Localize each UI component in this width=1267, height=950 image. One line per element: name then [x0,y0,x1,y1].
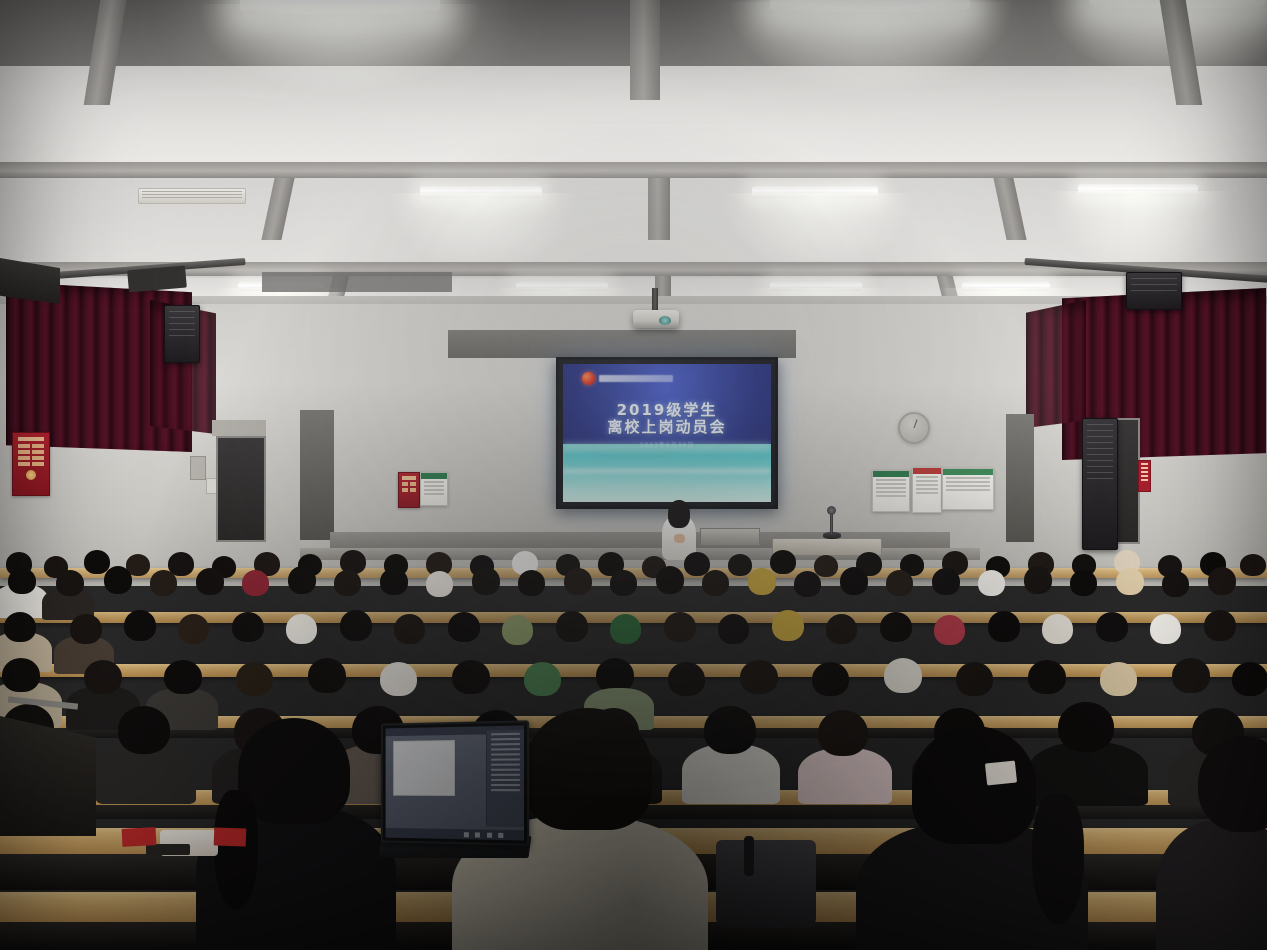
audience-head-front-left [238,718,350,824]
audience-head [452,660,490,694]
microphone-stand [830,512,833,534]
projector-lens [659,316,671,325]
audience-head [104,566,132,594]
audience-head [502,615,533,645]
audience-head [1070,570,1097,596]
audience-head [178,614,209,644]
backpack-strap [744,836,754,876]
audience-head [236,662,273,696]
audience-head [826,614,857,644]
paper-sheet [985,760,1017,785]
air-vent [138,188,246,204]
university-logo-icon [582,372,595,385]
audience-head [1150,614,1181,644]
audience-head [814,555,838,577]
audience-head [380,568,408,595]
screen-sea [563,444,771,502]
audience-head [286,614,317,644]
backpack [716,840,816,928]
audience-head [242,570,269,596]
wall-recess [448,330,796,358]
audience-head [70,614,102,644]
audience-head [56,570,84,596]
red-paper [122,827,157,847]
audience-head [772,610,804,641]
audience-head [664,612,696,642]
audience-head [812,662,849,696]
notice-board-red [912,467,942,513]
recessed-panel-light [420,186,542,198]
open-laptop[interactable] [381,720,529,846]
audience-head [124,610,156,641]
ceiling [0,0,1267,300]
notice-board-green [872,470,910,512]
audience-head [340,610,372,641]
red-paper-2 [214,827,247,846]
audience-head [656,566,684,594]
audience-head [818,710,868,756]
audience-head [472,567,500,595]
university-logo-wordmark [599,375,673,382]
ceiling-projector [633,310,679,328]
door-left[interactable] [216,436,266,542]
audience-head [1208,567,1236,595]
audience-head [2,658,40,692]
audience-head [1028,660,1066,694]
wall-recess-left [262,272,452,292]
laptop-status-bar [386,828,524,841]
audience-head [1042,614,1073,644]
projector-mount-arm [652,288,658,312]
audience-head [232,612,264,642]
audience-head [1100,662,1137,696]
slide-logo [582,372,673,385]
notice-board-green-2 [942,468,994,510]
audience-head [704,706,756,754]
audience-head [978,570,1005,596]
microphone-head [827,506,836,515]
audience-head [748,568,776,595]
hair-strand [214,790,258,910]
audience-head [1024,566,1052,594]
audience-head [1172,658,1210,693]
audience-head [956,662,993,696]
audience-head [426,571,453,597]
screen-foam [563,469,771,473]
audience-head [118,706,170,754]
audience-head [884,658,922,693]
audience-head [610,570,637,596]
audience-head [308,658,346,693]
audience-head [4,612,36,642]
audience-head [728,554,752,576]
audience-head [886,570,913,596]
laptop-canvas [394,740,455,796]
recessed-panel-light [1078,184,1198,196]
audience-area: ITRTRZOD [0,540,1267,950]
audience-head [1058,702,1114,752]
door-left-frame-top [212,420,266,436]
mobile-phone [146,844,190,855]
audience-head [196,568,224,595]
projection-screen-frame: 2019级学生 离校上岗动员会 2023年6月30日 [556,357,778,509]
audience-shoulders [798,748,892,804]
audience-head [988,611,1020,642]
audience-head [1162,571,1189,597]
audience-head [524,662,561,696]
slide-title-line2: 离校上岗动员会 [563,416,771,437]
audience-head [702,570,729,596]
audience-head [718,614,749,644]
wall-fixture-left [190,456,206,480]
audience-head [1240,554,1266,576]
audience-head-front-right [912,726,1036,844]
audience-head [840,567,868,595]
ceiling-beam [630,0,660,100]
audience-head [880,612,912,642]
recessed-panel-light [770,0,970,12]
audience-head [556,611,588,642]
audience-head [668,662,705,696]
audience-head [84,660,122,694]
lecture-hall-photo: 2019级学生 离校上岗动员会 2023年6月30日 [0,0,1267,950]
recessed-panel-light [516,282,608,291]
laptop-screen[interactable] [386,726,524,841]
laptop-tool-panel [486,730,524,827]
ceiling-beam [648,178,670,240]
red-wall-sign [1138,460,1151,492]
audience-head [564,568,592,595]
recessed-panel-light [240,0,440,14]
audience-shoulders-front-far-right [1156,820,1267,950]
stage-left-notice-board [420,472,448,506]
audience-head [770,550,796,574]
audience-head [740,660,778,694]
red-honor-poster [12,432,50,496]
audience-head [164,660,202,694]
presenter-hair [668,500,690,528]
audience-head [932,568,960,595]
slide-subtitle: 2023年6月30日 [563,440,771,449]
audience-head [934,615,965,645]
projection-screen: 2019级学生 离校上岗动员会 2023年6月30日 [563,364,771,502]
audience-head [1232,662,1267,696]
audience-head [8,568,36,594]
audience-head [448,612,480,642]
recessed-panel-light [752,186,878,198]
audience-head [1116,568,1144,595]
recessed-panel-light [962,282,1050,291]
stage-left-poster [398,472,420,508]
audience-head-front-center [524,708,652,830]
hair-strand-right [1032,794,1084,924]
audience-head [394,614,425,644]
pa-speaker-hanging-right [1126,272,1182,310]
audience-head [518,570,545,596]
pa-speaker-hanging-left [164,305,200,363]
audience-head [1096,612,1128,642]
audience-head [380,662,417,696]
audience-head [288,566,316,594]
audience-head [334,570,361,596]
audience-head [610,614,641,644]
audience-head [150,570,177,596]
recessed-panel-light [770,282,862,291]
stage-curtain-right-2 [1026,300,1086,428]
wall-clock [898,412,930,444]
audience-head [794,571,821,597]
audience-head [1204,610,1236,641]
pa-speaker-column [1082,418,1118,550]
doorway-right-dark [1006,414,1034,542]
doorway-left-dark [300,410,334,540]
